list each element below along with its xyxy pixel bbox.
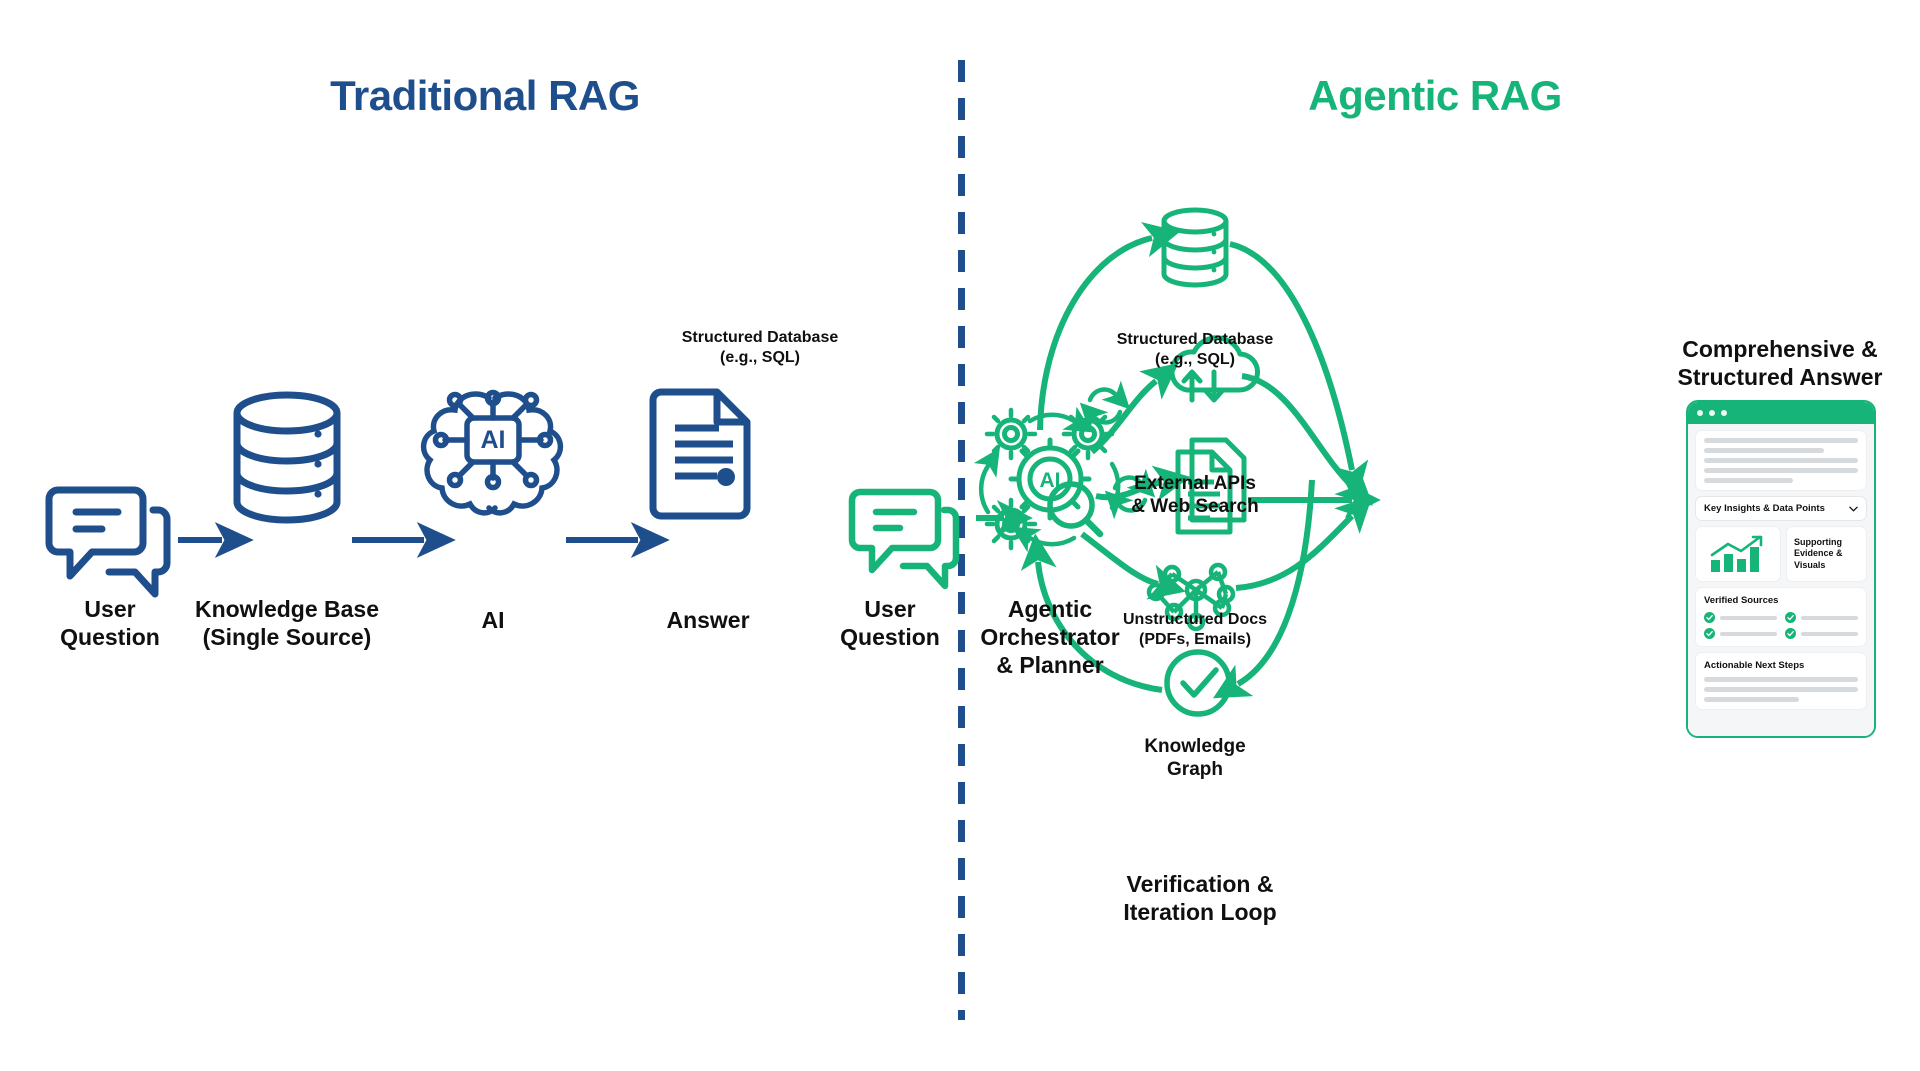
next-steps-panel: Actionable Next Steps xyxy=(1696,653,1866,709)
diagram-canvas: Traditional RAG Agentic RAG xyxy=(0,0,1920,1071)
node-label-answer: Answer xyxy=(623,606,793,634)
skeleton-line xyxy=(1704,697,1799,702)
node-label-structured-database: Structured Database (e.g., SQL) xyxy=(1075,330,1315,369)
verified-source-item xyxy=(1704,612,1777,623)
card-window-bar xyxy=(1688,402,1874,424)
node-label-ai: AI xyxy=(423,606,563,634)
window-dot-icon xyxy=(1697,410,1703,416)
check-circle-icon xyxy=(1785,612,1796,623)
document-icon xyxy=(653,392,747,516)
summary-panel xyxy=(1696,431,1866,490)
verified-source-item xyxy=(1704,628,1777,639)
verified-source-item xyxy=(1785,628,1858,639)
skeleton-line xyxy=(1720,632,1777,636)
dropdown-label: Key Insights & Data Points xyxy=(1704,503,1825,514)
verified-sources-panel: Verified Sources xyxy=(1696,588,1866,646)
chart-tile[interactable] xyxy=(1696,527,1780,581)
skeleton-line xyxy=(1704,458,1858,463)
check-circle-icon xyxy=(1704,628,1715,639)
evidence-tile-label: Supporting Evidence & Visuals xyxy=(1794,537,1843,571)
window-dot-icon xyxy=(1721,410,1727,416)
bar-chart-trend-icon xyxy=(1708,535,1768,573)
chevron-down-icon xyxy=(1849,506,1858,512)
verified-source-item xyxy=(1785,612,1858,623)
skeleton-line xyxy=(1704,448,1824,453)
answer-card[interactable]: Key Insights & Data Points xyxy=(1686,400,1876,738)
database-icon xyxy=(237,395,337,520)
node-label-external-apis: External APIs & Web Search xyxy=(1090,472,1300,518)
svg-text:AI: AI xyxy=(481,426,506,454)
node-label-verification-loop: Verification & Iteration Loop xyxy=(1060,870,1340,926)
skeleton-line xyxy=(1801,616,1858,620)
next-steps-title: Actionable Next Steps xyxy=(1704,660,1858,671)
skeleton-line xyxy=(1704,438,1858,443)
skeleton-line xyxy=(1704,687,1858,692)
check-circle-icon xyxy=(1704,612,1715,623)
node-label-knowledge-base: Knowledge Base (Single Source) xyxy=(157,595,417,651)
check-circle-icon xyxy=(1785,628,1796,639)
skeleton-line xyxy=(1704,468,1858,473)
window-dot-icon xyxy=(1709,410,1715,416)
card-body: Key Insights & Data Points xyxy=(1688,424,1874,738)
skeleton-line xyxy=(1704,677,1858,682)
database-icon xyxy=(1164,210,1226,285)
left-panel-graphics: AI xyxy=(0,0,960,1071)
evidence-row: Supporting Evidence & Visuals xyxy=(1696,527,1866,581)
answer-card-heading: Comprehensive & Structured Answer xyxy=(1635,335,1920,391)
skeleton-line xyxy=(1704,478,1793,483)
floating-note-structured-database: Structured Database (e.g., SQL) xyxy=(625,328,895,367)
verified-sources-title: Verified Sources xyxy=(1704,595,1858,606)
evidence-tile[interactable]: Supporting Evidence & Visuals xyxy=(1787,527,1866,581)
node-label-unstructured-docs: Unstructured Docs (PDFs, Emails) xyxy=(1070,610,1320,649)
ai-brain-icon: AI xyxy=(424,393,561,513)
skeleton-line xyxy=(1720,616,1777,620)
key-insights-dropdown[interactable]: Key Insights & Data Points xyxy=(1696,497,1866,520)
skeleton-line xyxy=(1801,632,1858,636)
check-circle-icon xyxy=(1167,652,1229,714)
node-label-knowledge-graph: Knowledge Graph xyxy=(1110,735,1280,781)
chat-bubbles-icon xyxy=(49,490,167,594)
